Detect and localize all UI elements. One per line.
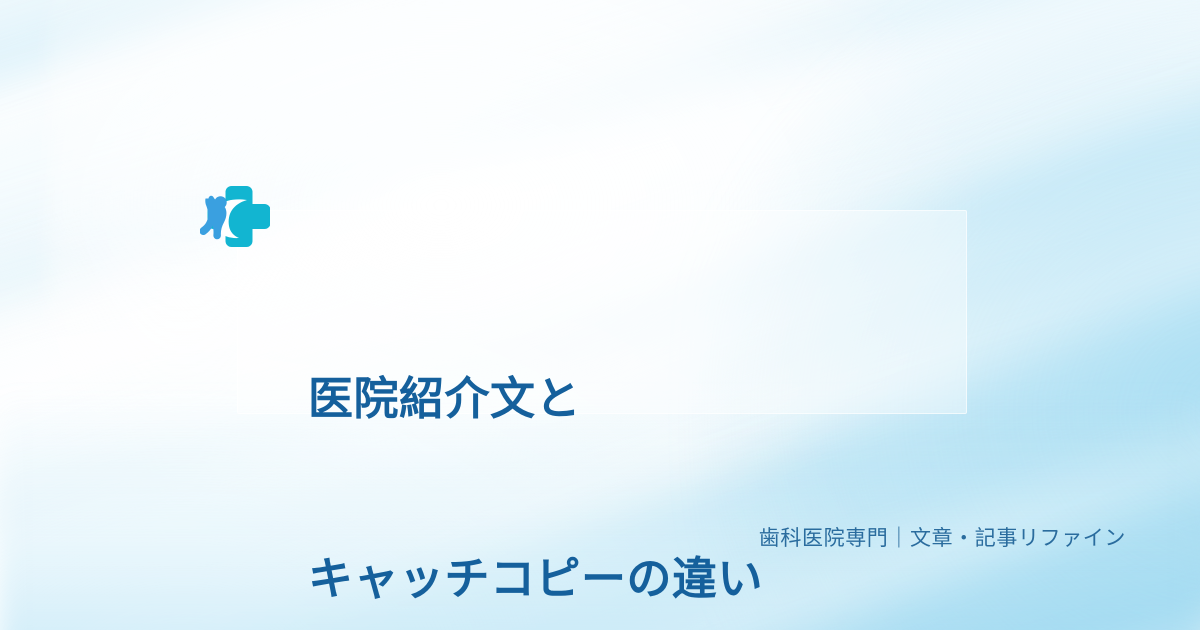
credit-specialty-line: 歯科医院専門｜文章・記事リファイン [706, 521, 1126, 557]
card-content: 医院紹介文と キャッチコピーの違い 歯科医院専門｜文章・記事リファイン ぱそあん [0, 0, 1200, 630]
credit-block: 歯科医院専門｜文章・記事リファイン ぱそあん [706, 449, 1126, 630]
medical-cross-person-logo-icon [200, 184, 270, 247]
headline-line-1: 医院紹介文と [308, 369, 948, 429]
